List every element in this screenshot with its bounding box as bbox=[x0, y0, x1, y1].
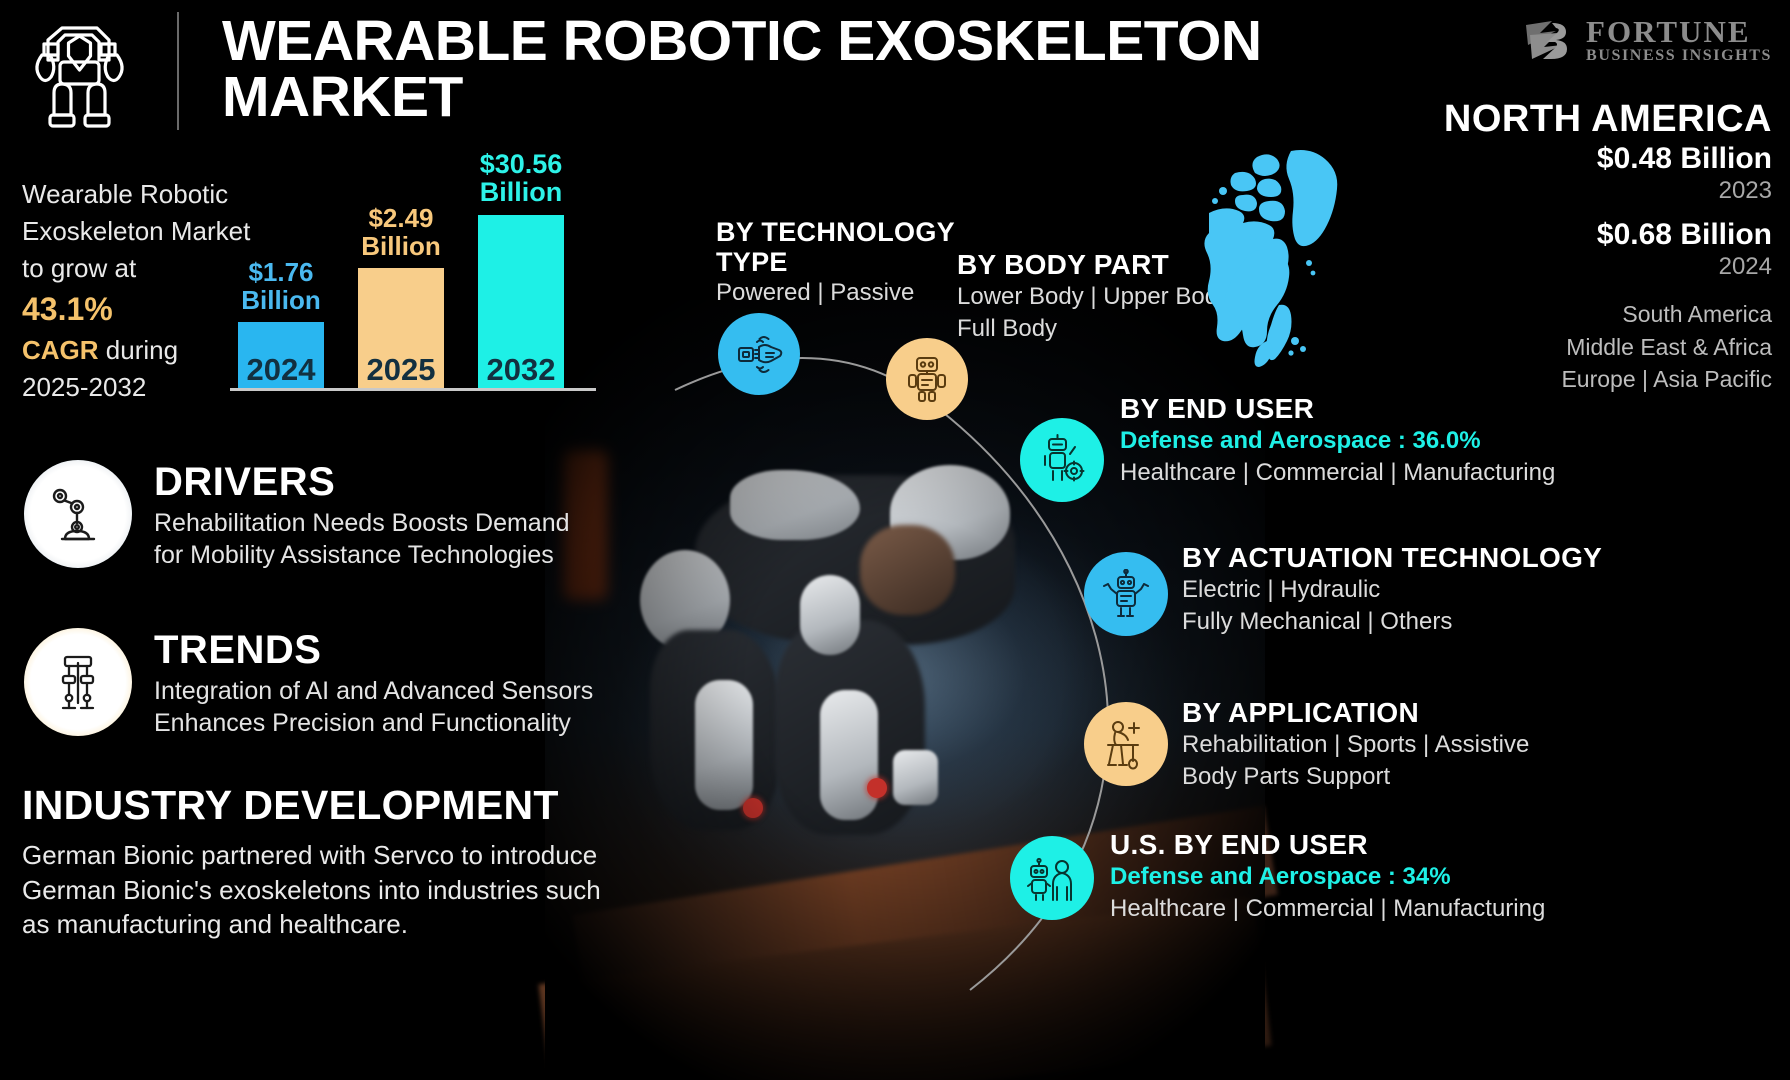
robotic-arm-glyph bbox=[47, 483, 109, 545]
market-size-bar-chart: $1.76Billion 2024 $2.49Billion 2025 $30.… bbox=[230, 150, 600, 390]
chart-baseline-axis bbox=[230, 388, 596, 391]
feature-trends-text: TRENDS Integration of AI and Advanced Se… bbox=[154, 628, 593, 739]
rehabilitation-walker-icon[interactable] bbox=[1084, 702, 1168, 786]
bar-2032: 2032 bbox=[478, 215, 564, 390]
robot-gear-icon[interactable] bbox=[1020, 418, 1104, 502]
feature-drivers-line-2: for Mobility Assistance Technologies bbox=[154, 539, 570, 571]
brand-text: FORTUNE BUSINESS INSIGHTS bbox=[1586, 16, 1772, 64]
robotic-arm-icon bbox=[24, 460, 132, 568]
industry-development: INDUSTRY DEVELOPMENT German Bionic partn… bbox=[22, 785, 642, 942]
region-value-2023-year: 2023 bbox=[1597, 175, 1772, 206]
robot-exoskeleton-icon bbox=[22, 10, 137, 130]
feature-drivers-text: DRIVERS Rehabilitation Needs Boosts Dema… bbox=[154, 460, 570, 571]
segment-application-heading: BY APPLICATION bbox=[1182, 698, 1682, 729]
feature-drivers-heading: DRIVERS bbox=[154, 462, 570, 502]
robot-and-person-glyph bbox=[1026, 853, 1078, 903]
robot-body-glyph bbox=[903, 354, 951, 404]
feature-trends-line-1: Integration of AI and Advanced Sensors bbox=[154, 675, 593, 707]
brand-name-primary: FORTUNE bbox=[1586, 16, 1772, 47]
segment-end-user-heading: BY END USER bbox=[1120, 394, 1590, 425]
feature-drivers-line-1: Rehabilitation Needs Boosts Demand bbox=[154, 507, 570, 539]
cagr-label: CAGR bbox=[22, 335, 99, 365]
segment-actuation-text: BY ACTUATION TECHNOLOGY Electric | Hydra… bbox=[1182, 543, 1682, 638]
region-value-2024: $0.68 Billion 2024 bbox=[1597, 218, 1772, 282]
feature-trends-heading: TRENDS bbox=[154, 630, 593, 670]
bar-2024: 2024 bbox=[238, 322, 324, 390]
exoskeleton-legs-glyph bbox=[49, 651, 107, 713]
region-value-2024-amount: $0.68 Billion bbox=[1597, 218, 1772, 251]
bar-category-2032: 2032 bbox=[487, 352, 556, 390]
segment-actuation-sub-2: Fully Mechanical | Others bbox=[1182, 606, 1682, 638]
infographic-page: WEARABLE ROBOTIC EXOSKELETON MARKET FORT… bbox=[0, 0, 1790, 1080]
bar-value-label-2024: $1.76Billion bbox=[241, 259, 320, 314]
segment-us-end-user-highlight: Defense and Aerospace : 34% bbox=[1110, 861, 1670, 893]
segment-end-user-text: BY END USER Defense and Aerospace : 36.0… bbox=[1120, 394, 1590, 489]
other-region-1: South America bbox=[1561, 298, 1772, 331]
region-value-2023-amount: $0.48 Billion bbox=[1597, 142, 1772, 175]
segment-technology-type-sub-1: Powered | Passive bbox=[716, 277, 986, 309]
rehabilitation-walker-glyph bbox=[1101, 718, 1151, 770]
segment-us-end-user-sub-1: Healthcare | Commercial | Manufacturing bbox=[1110, 893, 1670, 925]
bar-group-2025: $2.49Billion 2025 bbox=[358, 150, 444, 390]
smart-wearable-hand-glyph bbox=[733, 328, 785, 380]
industry-development-line-1: German Bionic partnered with Servco to i… bbox=[22, 838, 642, 873]
segment-application-text: BY APPLICATION Rehabilitation | Sports |… bbox=[1182, 698, 1682, 793]
segment-technology-type-heading: BY TECHNOLOGY TYPE bbox=[716, 218, 986, 277]
robot-body-icon[interactable] bbox=[886, 338, 968, 420]
page-title: WEARABLE ROBOTIC EXOSKELETON MARKET bbox=[222, 14, 1282, 126]
bar-2025: 2025 bbox=[358, 268, 444, 390]
industry-development-heading: INDUSTRY DEVELOPMENT bbox=[22, 785, 642, 826]
segment-actuation-heading: BY ACTUATION TECHNOLOGY bbox=[1182, 543, 1682, 574]
feature-drivers: DRIVERS Rehabilitation Needs Boosts Dema… bbox=[24, 460, 634, 571]
segment-us-end-user-text: U.S. BY END USER Defense and Aerospace :… bbox=[1110, 830, 1670, 925]
segment-end-user-highlight: Defense and Aerospace : 36.0% bbox=[1120, 425, 1590, 457]
feature-trends: TRENDS Integration of AI and Advanced Se… bbox=[24, 628, 634, 739]
other-regions-list: South America Middle East & Africa Europ… bbox=[1561, 298, 1772, 396]
segment-application-sub-1: Rehabilitation | Sports | Assistive bbox=[1182, 729, 1682, 761]
bar-value-label-2032: $30.56Billion bbox=[480, 150, 563, 207]
robot-gear-glyph bbox=[1037, 434, 1087, 486]
segment-actuation-sub-1: Electric | Hydraulic bbox=[1182, 574, 1682, 606]
region-value-2023: $0.48 Billion 2023 bbox=[1597, 142, 1772, 206]
bar-value-label-2025: $2.49Billion bbox=[361, 205, 440, 260]
robot-and-person-icon[interactable] bbox=[1010, 836, 1094, 920]
cagr-during: during bbox=[99, 335, 179, 365]
brand-name-secondary: BUSINESS INSIGHTS bbox=[1586, 48, 1772, 64]
bar-category-2024: 2024 bbox=[247, 352, 316, 390]
segment-us-end-user-heading: U.S. BY END USER bbox=[1110, 830, 1670, 861]
region-value-2024-year: 2024 bbox=[1597, 251, 1772, 282]
other-region-2: Middle East & Africa bbox=[1561, 331, 1772, 364]
other-region-3: Europe | Asia Pacific bbox=[1561, 363, 1772, 396]
industry-development-line-3: as manufacturing and healthcare. bbox=[22, 907, 642, 942]
robot-arms-up-icon[interactable] bbox=[1084, 552, 1168, 636]
exoskeleton-legs-icon bbox=[24, 628, 132, 736]
robot-arms-up-glyph bbox=[1101, 569, 1151, 619]
bar-category-2025: 2025 bbox=[367, 352, 436, 390]
smart-wearable-hand-icon[interactable] bbox=[718, 313, 800, 395]
fortune-business-insights-mark bbox=[1522, 19, 1574, 61]
segment-technology-type-text: BY TECHNOLOGY TYPE Powered | Passive bbox=[716, 218, 986, 309]
industry-development-line-2: German Bionic's exoskeletons into indust… bbox=[22, 873, 642, 908]
segment-application-sub-2: Body Parts Support bbox=[1182, 761, 1682, 793]
brand-logo: FORTUNE BUSINESS INSIGHTS bbox=[1522, 16, 1772, 64]
feature-trends-line-2: Enhances Precision and Functionality bbox=[154, 707, 593, 739]
north-america-map bbox=[1195, 145, 1370, 375]
industry-development-body: German Bionic partnered with Servco to i… bbox=[22, 838, 642, 942]
bar-group-2032: $30.56Billion 2032 bbox=[478, 150, 564, 390]
title-divider bbox=[177, 12, 179, 130]
bar-group-2024: $1.76Billion 2024 bbox=[238, 150, 324, 390]
segment-end-user-sub-1: Healthcare | Commercial | Manufacturing bbox=[1120, 457, 1590, 489]
region-title: NORTH AMERICA bbox=[1444, 98, 1772, 141]
